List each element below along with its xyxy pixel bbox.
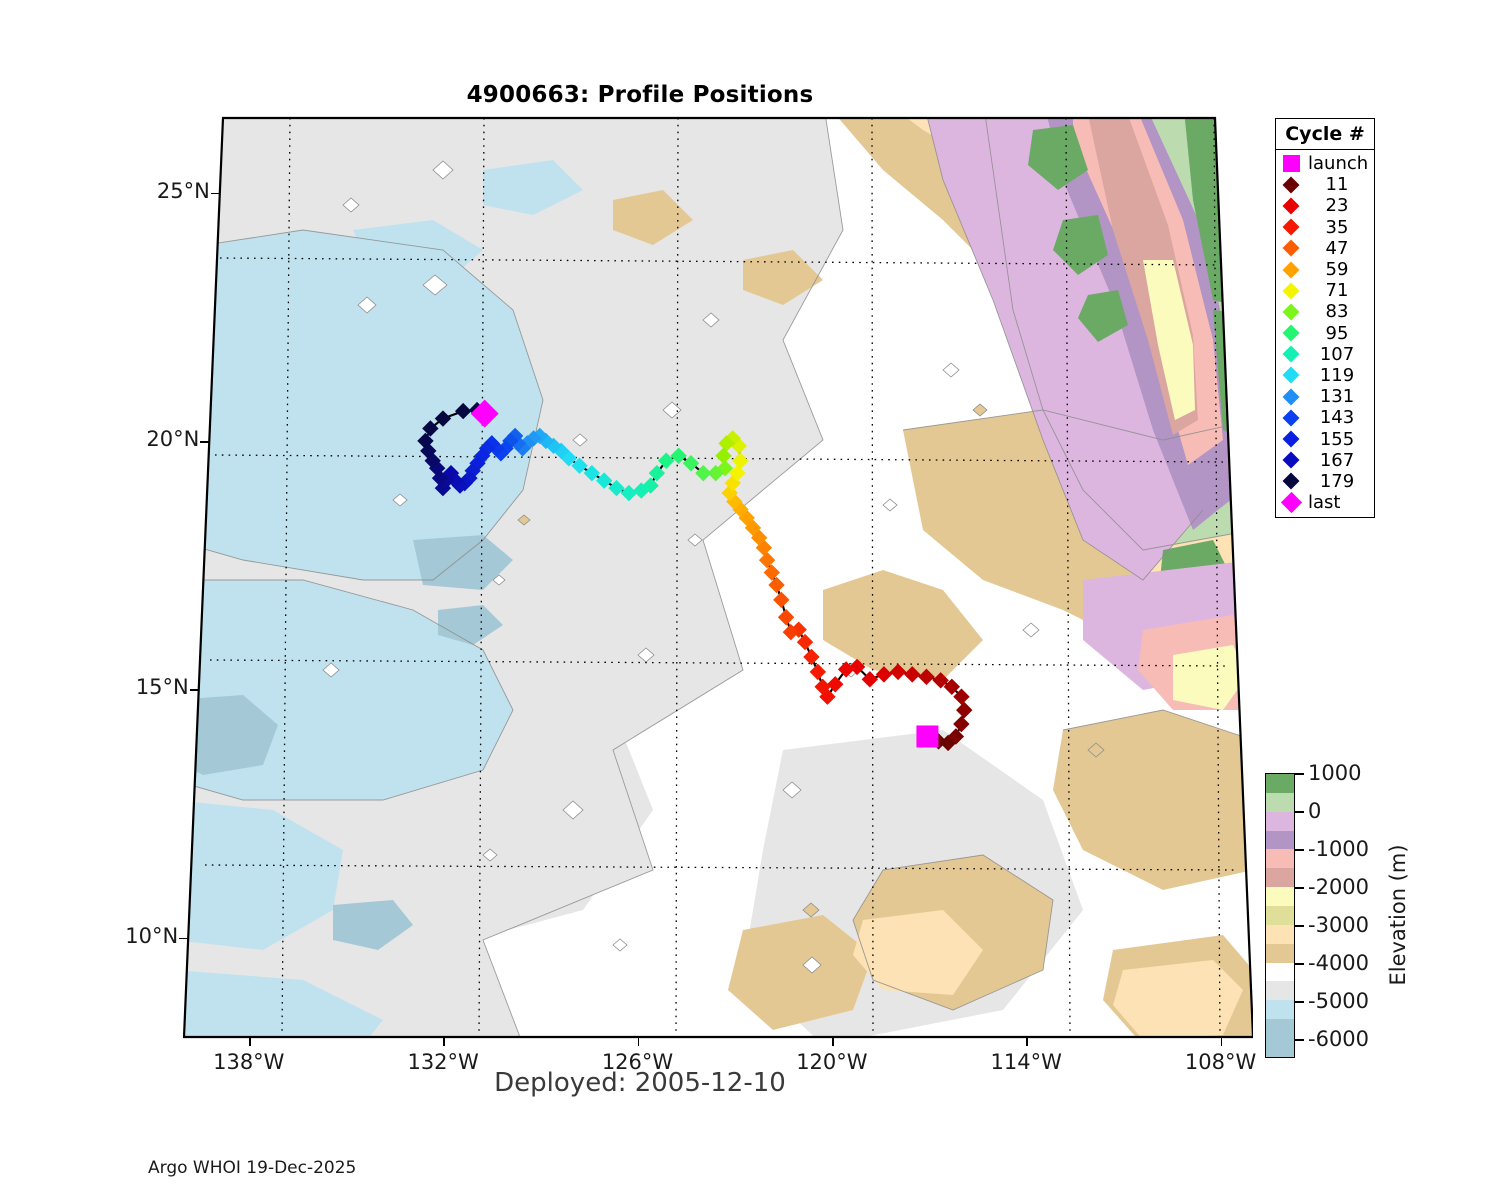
legend-swatch-diamond bbox=[1276, 369, 1306, 381]
legend-marker bbox=[1283, 240, 1300, 257]
colorbar-tick-mark bbox=[1295, 1039, 1304, 1041]
y-tick-label: 20°N bbox=[57, 427, 199, 451]
legend-item[interactable]: 167 bbox=[1276, 450, 1374, 471]
deployed-caption: Deployed: 2005-12-10 bbox=[0, 1068, 1280, 1098]
legend-marker bbox=[1283, 176, 1300, 193]
legend-label: 83 bbox=[1306, 301, 1368, 322]
legend-label: 35 bbox=[1306, 217, 1368, 238]
legend-marker bbox=[1283, 388, 1300, 405]
legend-label: 143 bbox=[1306, 407, 1368, 428]
colorbar-tick-label: 0 bbox=[1308, 799, 1321, 823]
legend-label: 155 bbox=[1306, 429, 1368, 450]
legend-swatch-diamond bbox=[1276, 200, 1306, 212]
colorbar-tick-label: -4000 bbox=[1308, 951, 1369, 975]
colorbar-tick-label: -1000 bbox=[1308, 837, 1369, 861]
colorbar-tick-mark bbox=[1295, 1001, 1304, 1003]
legend-item[interactable]: 179 bbox=[1276, 471, 1374, 492]
colorbar-tick-label: -2000 bbox=[1308, 875, 1369, 899]
legend-swatch-diamond bbox=[1276, 285, 1306, 297]
legend-marker bbox=[1283, 303, 1300, 320]
colorbar-tick-mark bbox=[1295, 925, 1304, 927]
colorbar-band bbox=[1266, 831, 1294, 850]
legend-swatch-square bbox=[1276, 155, 1306, 172]
legend-swatch-diamond bbox=[1276, 348, 1306, 360]
colorbar-band bbox=[1266, 887, 1294, 906]
legend-items[interactable]: launch1123354759718395107119131143155167… bbox=[1276, 150, 1374, 517]
legend-label: last bbox=[1306, 492, 1340, 513]
legend-item[interactable]: 11 bbox=[1276, 174, 1374, 195]
colorbar-band bbox=[1266, 981, 1294, 1000]
footer-credit: Argo WHOI 19-Dec-2025 bbox=[148, 1158, 356, 1178]
legend-label: 131 bbox=[1306, 386, 1368, 407]
legend-swatch-diamond-big bbox=[1276, 495, 1306, 510]
legend-label: 71 bbox=[1306, 280, 1368, 301]
legend-marker bbox=[1283, 325, 1300, 342]
legend-item[interactable]: 95 bbox=[1276, 323, 1374, 344]
legend-marker bbox=[1283, 409, 1300, 426]
colorbar-band bbox=[1266, 812, 1294, 831]
legend-title: Cycle # bbox=[1276, 119, 1374, 150]
y-tick-label: 10°N bbox=[36, 924, 178, 948]
legend-swatch-diamond bbox=[1276, 391, 1306, 403]
legend-marker bbox=[1283, 367, 1300, 384]
colorbar-band bbox=[1266, 906, 1294, 925]
legend-item[interactable]: 71 bbox=[1276, 280, 1374, 301]
legend-item[interactable]: 47 bbox=[1276, 238, 1374, 259]
colorbar-tick-mark bbox=[1295, 773, 1304, 775]
colorbar-band bbox=[1266, 868, 1294, 887]
legend-item[interactable]: 83 bbox=[1276, 301, 1374, 322]
cycle-legend[interactable]: Cycle # launch11233547597183951071191311… bbox=[1275, 118, 1375, 518]
legend-marker bbox=[1283, 261, 1300, 278]
legend-marker bbox=[1283, 346, 1300, 363]
legend-swatch-diamond bbox=[1276, 179, 1306, 191]
legend-label: launch bbox=[1306, 153, 1368, 174]
colorbar-tick-label: 1000 bbox=[1308, 761, 1361, 785]
colorbar-band bbox=[1266, 1000, 1294, 1019]
legend-marker bbox=[1283, 219, 1300, 236]
legend-label: 95 bbox=[1306, 323, 1368, 344]
legend-label: 119 bbox=[1306, 365, 1368, 386]
legend-label: 23 bbox=[1306, 195, 1368, 216]
colorbar-band bbox=[1266, 963, 1294, 982]
legend-marker bbox=[1283, 155, 1300, 172]
legend-swatch-diamond bbox=[1276, 327, 1306, 339]
legend-item[interactable]: launch bbox=[1276, 153, 1374, 174]
map-plot[interactable] bbox=[183, 110, 1253, 1045]
legend-swatch-diamond bbox=[1276, 221, 1306, 233]
colorbar-tick-mark bbox=[1295, 963, 1304, 965]
legend-label: 107 bbox=[1306, 344, 1368, 365]
launch-marker[interactable] bbox=[916, 725, 938, 747]
bathymetry-layer bbox=[183, 110, 1253, 1045]
colorbar-band bbox=[1266, 774, 1294, 793]
colorbar-band bbox=[1266, 925, 1294, 944]
colorbar-tick-mark bbox=[1295, 849, 1304, 851]
y-tick-label: 15°N bbox=[47, 675, 189, 699]
legend-item[interactable]: 107 bbox=[1276, 344, 1374, 365]
page-title: 4900663: Profile Positions bbox=[0, 82, 1280, 108]
legend-label: 179 bbox=[1306, 471, 1368, 492]
legend-marker bbox=[1283, 473, 1300, 490]
legend-label: 47 bbox=[1306, 238, 1368, 259]
legend-swatch-diamond bbox=[1276, 242, 1306, 254]
legend-marker bbox=[1283, 197, 1300, 214]
legend-label: 59 bbox=[1306, 259, 1368, 280]
legend-swatch-diamond bbox=[1276, 433, 1306, 445]
colorbar-tick-label: -5000 bbox=[1308, 989, 1369, 1013]
legend-swatch-diamond bbox=[1276, 454, 1306, 466]
legend-item[interactable]: 155 bbox=[1276, 428, 1374, 449]
legend-item[interactable]: 59 bbox=[1276, 259, 1374, 280]
legend-item[interactable]: 119 bbox=[1276, 365, 1374, 386]
legend-marker bbox=[1280, 492, 1301, 513]
legend-item[interactable]: last bbox=[1276, 492, 1374, 513]
legend-item[interactable]: 35 bbox=[1276, 217, 1374, 238]
colorbar-tick-label: -6000 bbox=[1308, 1027, 1369, 1051]
legend-marker bbox=[1283, 431, 1300, 448]
legend-item[interactable]: 131 bbox=[1276, 386, 1374, 407]
colorbar-band bbox=[1266, 793, 1294, 812]
legend-swatch-diamond bbox=[1276, 264, 1306, 276]
legend-item[interactable]: 23 bbox=[1276, 195, 1374, 216]
legend-swatch-diamond bbox=[1276, 412, 1306, 424]
legend-label: 11 bbox=[1306, 174, 1368, 195]
colorbar-band bbox=[1266, 944, 1294, 963]
map-canvas[interactable] bbox=[183, 110, 1253, 1045]
colorbar-tick-mark bbox=[1295, 811, 1304, 813]
colorbar-axis-label: Elevation (m) bbox=[1386, 844, 1410, 985]
legend-marker bbox=[1283, 282, 1300, 299]
legend-item[interactable]: 143 bbox=[1276, 407, 1374, 428]
legend-marker bbox=[1283, 452, 1300, 469]
colorbar-tick-mark bbox=[1295, 887, 1304, 889]
colorbar-band bbox=[1266, 849, 1294, 868]
legend-label: 167 bbox=[1306, 450, 1368, 471]
legend-swatch-diamond bbox=[1276, 306, 1306, 318]
colorbar-tick-label: -3000 bbox=[1308, 913, 1369, 937]
legend-swatch-diamond bbox=[1276, 475, 1306, 487]
elevation-colorbar[interactable] bbox=[1265, 773, 1295, 1058]
colorbar-band bbox=[1266, 1019, 1294, 1057]
